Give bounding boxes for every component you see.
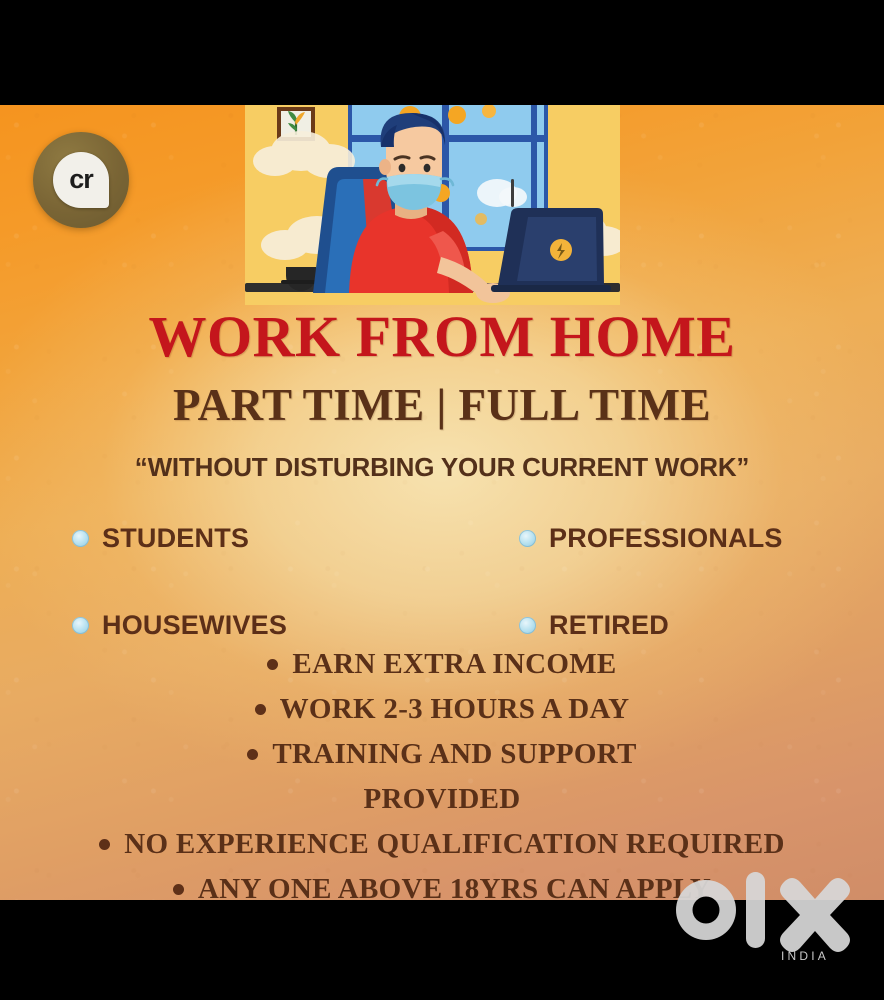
- audience-label: PROFESSIONALS: [549, 525, 783, 552]
- audience-list: STUDENTS PROFESSIONALS HOUSEWIVES RETIRE…: [72, 525, 812, 639]
- bullet-dot-icon: [173, 884, 184, 895]
- benefits-list: EARN EXTRA INCOME WORK 2-3 HOURS A DAY T…: [0, 650, 884, 900]
- audience-label: HOUSEWIVES: [102, 612, 287, 639]
- bullet-dot-icon: [255, 704, 266, 715]
- bullet-dot-icon: [267, 659, 278, 670]
- benefit-item: NO EXPERIENCE QUALIFICATION REQUIRED: [0, 830, 884, 859]
- bullet-dot-icon: [72, 617, 89, 634]
- tagline-quote: “WITHOUT DISTURBING YOUR CURRENT WORK”: [0, 454, 884, 480]
- benefit-label: EARN EXTRA INCOME: [292, 650, 616, 679]
- benefit-item-continuation: PROVIDED: [0, 785, 884, 814]
- benefit-label: PROVIDED: [363, 785, 520, 814]
- audience-item-students: STUDENTS: [72, 525, 519, 552]
- page-title: WORK FROM HOME: [0, 308, 884, 366]
- benefit-item: ANY ONE ABOVE 18YRS CAN APPLY: [0, 875, 884, 900]
- headings-block: WORK FROM HOME PART TIME | FULL TIME “WI…: [0, 308, 884, 480]
- cr-logo-icon: cr: [53, 152, 109, 208]
- audience-item-housewives: HOUSEWIVES: [72, 612, 519, 639]
- bullet-dot-icon: [99, 839, 110, 850]
- letterbox-bottom-bar: [0, 900, 884, 1000]
- page-subtitle: PART TIME | FULL TIME: [0, 383, 884, 428]
- benefit-label: ANY ONE ABOVE 18YRS CAN APPLY: [198, 875, 711, 900]
- cr-logo-text: cr: [69, 166, 93, 193]
- poster-canvas: WORK FROM HOME PART TIME | FULL TIME “WI…: [0, 105, 884, 900]
- audience-label: RETIRED: [549, 612, 669, 639]
- bullet-dot-icon: [72, 530, 89, 547]
- bullet-dot-icon: [247, 749, 258, 760]
- audience-item-professionals: PROFESSIONALS: [519, 525, 812, 552]
- benefit-item: TRAINING AND SUPPORT: [0, 740, 884, 769]
- benefit-item: EARN EXTRA INCOME: [0, 650, 884, 679]
- benefit-label: TRAINING AND SUPPORT: [272, 740, 636, 769]
- work-from-home-illustration: [245, 105, 620, 305]
- poster-root: WORK FROM HOME PART TIME | FULL TIME “WI…: [0, 0, 884, 1000]
- benefit-label: NO EXPERIENCE QUALIFICATION REQUIRED: [124, 830, 784, 859]
- audience-label: STUDENTS: [102, 525, 249, 552]
- benefit-label: WORK 2-3 HOURS A DAY: [280, 695, 630, 724]
- cr-logo-badge: cr: [33, 132, 129, 228]
- bullet-dot-icon: [519, 530, 536, 547]
- bullet-dot-icon: [519, 617, 536, 634]
- letterbox-top-bar: [0, 0, 884, 105]
- audience-item-retired: RETIRED: [519, 612, 812, 639]
- benefit-item: WORK 2-3 HOURS A DAY: [0, 695, 884, 724]
